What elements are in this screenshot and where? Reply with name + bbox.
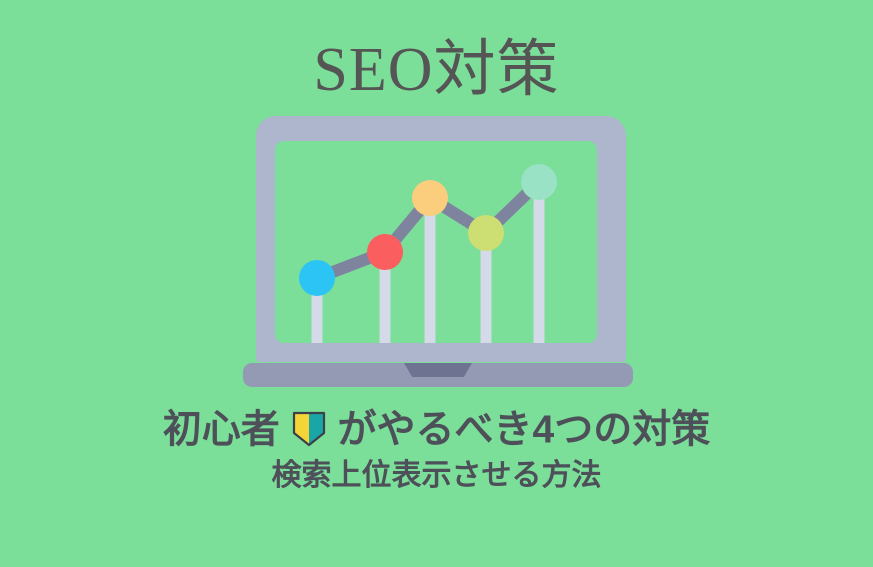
chart-stem-3 <box>425 198 436 343</box>
chart-marker-point-orange <box>412 180 448 216</box>
chart-marker-point-teal <box>521 164 557 200</box>
page-title: SEO対策 <box>0 34 873 106</box>
growth-line-chart <box>275 141 597 343</box>
headline: 初心者 がやるべき4つの対策 <box>0 405 873 455</box>
laptop-trackpad-notch <box>404 363 472 377</box>
headline-prefix: 初心者 <box>163 409 280 452</box>
beginner-mark-icon <box>292 411 326 447</box>
chart-marker-point-red <box>367 234 403 270</box>
headline-suffix: がやるべき4つの対策 <box>338 409 711 452</box>
sub-headline: 検索上位表示させる方法 <box>0 456 873 496</box>
laptop-illustration <box>243 116 633 388</box>
chart-marker-point-blue <box>299 260 335 296</box>
chart-marker-point-yellowgreen <box>468 215 504 251</box>
laptop-screen <box>275 141 597 343</box>
chart-stem-5 <box>534 182 545 343</box>
seo-banner-canvas: SEO対策 初心者 がやるべき4つの対策 検索上位表示させる方法 <box>0 0 873 567</box>
